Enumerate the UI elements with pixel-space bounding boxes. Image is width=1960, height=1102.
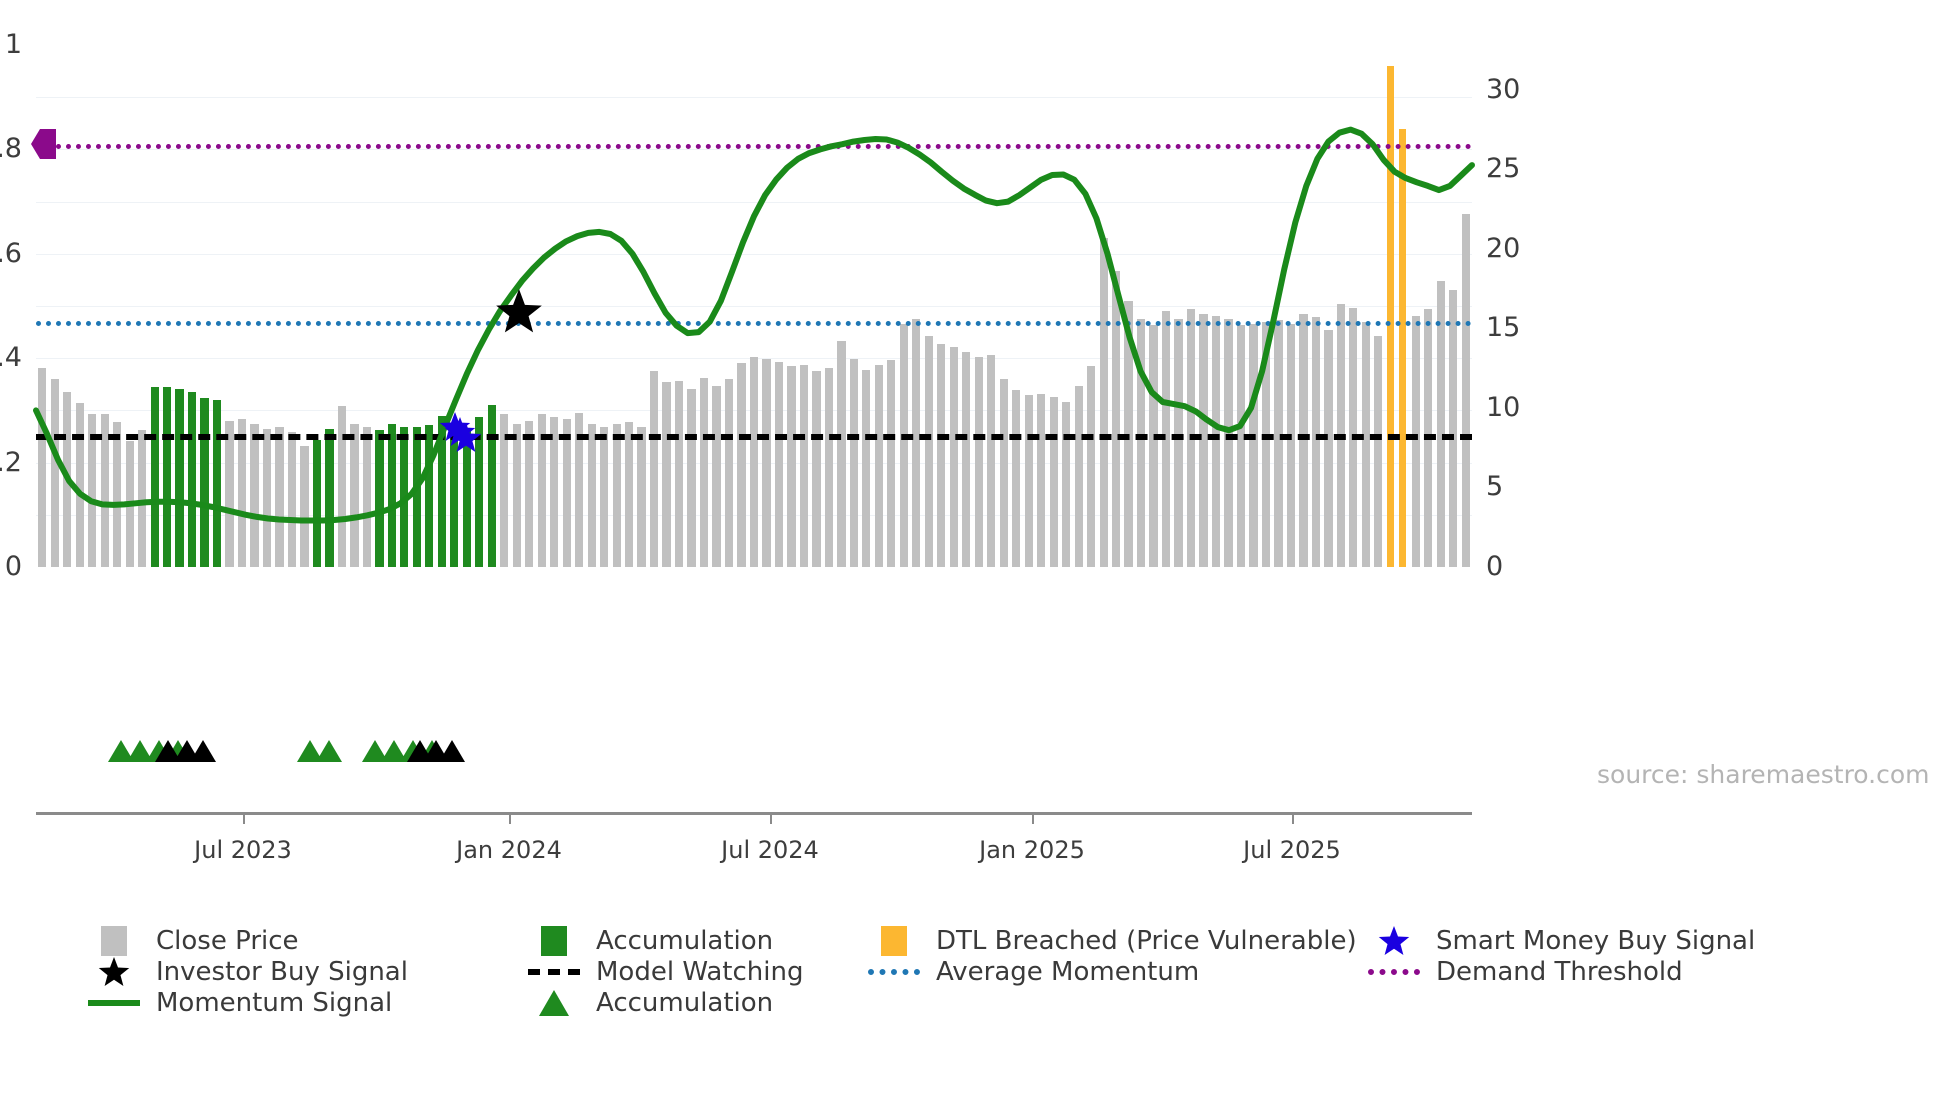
legend-label-smart-money-buy-signal: Smart Money Buy Signal xyxy=(1436,928,1755,954)
legend-label-average-momentum: Average Momentum xyxy=(936,959,1199,985)
legend-label-model-watching: Model Watching xyxy=(596,959,803,985)
chart-legend: Close PriceAccumulationDTL Breached (Pri… xyxy=(88,925,1928,1018)
x-axis-tick-label-4: Jul 2025 xyxy=(1243,838,1341,862)
legend-item-model-watching[interactable]: Model Watching xyxy=(528,956,868,987)
legend-label-dtl-breached: DTL Breached (Price Vulnerable) xyxy=(936,928,1357,954)
legend-label-investor-buy-signal: Investor Buy Signal xyxy=(156,959,408,985)
average-momentum-key xyxy=(868,958,920,986)
source-note: source: sharemaestro.com xyxy=(1597,760,1930,789)
legend-label-momentum-signal: Momentum Signal xyxy=(156,990,392,1016)
x-axis-tick-mark-4 xyxy=(1292,813,1294,824)
legend-label-close-price: Close Price xyxy=(156,928,299,954)
demand-threshold-key xyxy=(1368,958,1420,986)
legend-item-smart-money-buy-signal[interactable]: Smart Money Buy Signal xyxy=(1368,925,1808,956)
investor-buy-signal-key xyxy=(88,958,140,986)
x-axis-tick-label-2: Jul 2024 xyxy=(721,838,819,862)
momentum-signal-line-icon xyxy=(88,1000,140,1006)
accumulation-triangle-icon xyxy=(439,740,465,762)
accumulation-marker-triangle-icon xyxy=(539,990,569,1016)
model-watching-dashed-line-icon xyxy=(528,969,580,975)
legend-label-demand-threshold: Demand Threshold xyxy=(1436,959,1683,985)
x-axis-tick-label-3: Jan 2025 xyxy=(979,838,1085,862)
x-axis-tick-mark-0 xyxy=(243,813,245,824)
smart-money-buy-signal-star-icon xyxy=(1377,924,1411,958)
accumulation-bar-key xyxy=(528,927,580,955)
accumulation-triangle-icon xyxy=(190,740,216,762)
accumulation-marker-key xyxy=(528,989,580,1017)
legend-label-accumulation-bar: Accumulation xyxy=(596,928,773,954)
legend-item-momentum-signal[interactable]: Momentum Signal xyxy=(88,987,528,1018)
legend-item-demand-threshold[interactable]: Demand Threshold xyxy=(1368,956,1808,987)
legend-item-close-price[interactable]: Close Price xyxy=(88,925,528,956)
investor-buy-signal-star-icon xyxy=(492,285,546,339)
close-price-swatch-icon xyxy=(101,926,127,956)
smart-money-buy-signal-key xyxy=(1368,927,1420,955)
demand-threshold-dotted-line-icon xyxy=(1368,969,1420,975)
x-axis-tick-label-1: Jan 2024 xyxy=(456,838,562,862)
model-watching-key xyxy=(528,958,580,986)
smart-money-buy-signal-star-icon xyxy=(447,419,485,457)
legend-item-average-momentum[interactable]: Average Momentum xyxy=(868,956,1368,987)
x-axis-tick-mark-1 xyxy=(509,813,511,824)
legend-item-investor-buy-signal[interactable]: Investor Buy Signal xyxy=(88,956,528,987)
dtl-breached-swatch-icon xyxy=(881,926,907,956)
legend-item-accumulation-marker[interactable]: Accumulation xyxy=(528,987,868,1018)
x-axis-tick-mark-2 xyxy=(770,813,772,824)
momentum-signal-path xyxy=(36,130,1472,521)
x-axis-tick-label-0: Jul 2023 xyxy=(194,838,292,862)
legend-item-dtl-breached[interactable]: DTL Breached (Price Vulnerable) xyxy=(868,925,1368,956)
investor-buy-signal-star-icon xyxy=(97,955,131,989)
legend-label-accumulation-marker: Accumulation xyxy=(596,990,773,1016)
momentum-signal-key xyxy=(88,989,140,1017)
accumulation-bar-swatch-icon xyxy=(541,926,567,956)
accumulation-triangle-icon xyxy=(316,740,342,762)
average-momentum-dotted-line-icon xyxy=(868,969,920,975)
close-price-key xyxy=(88,927,140,955)
chart-canvas: 10.80.60.40.20 302520151050 Jul 2023Jan … xyxy=(0,0,1960,1102)
x-axis-tick-mark-3 xyxy=(1032,813,1034,824)
x-axis-line xyxy=(36,812,1472,815)
dtl-breached-key xyxy=(868,927,920,955)
legend-item-accumulation-bar[interactable]: Accumulation xyxy=(528,925,868,956)
